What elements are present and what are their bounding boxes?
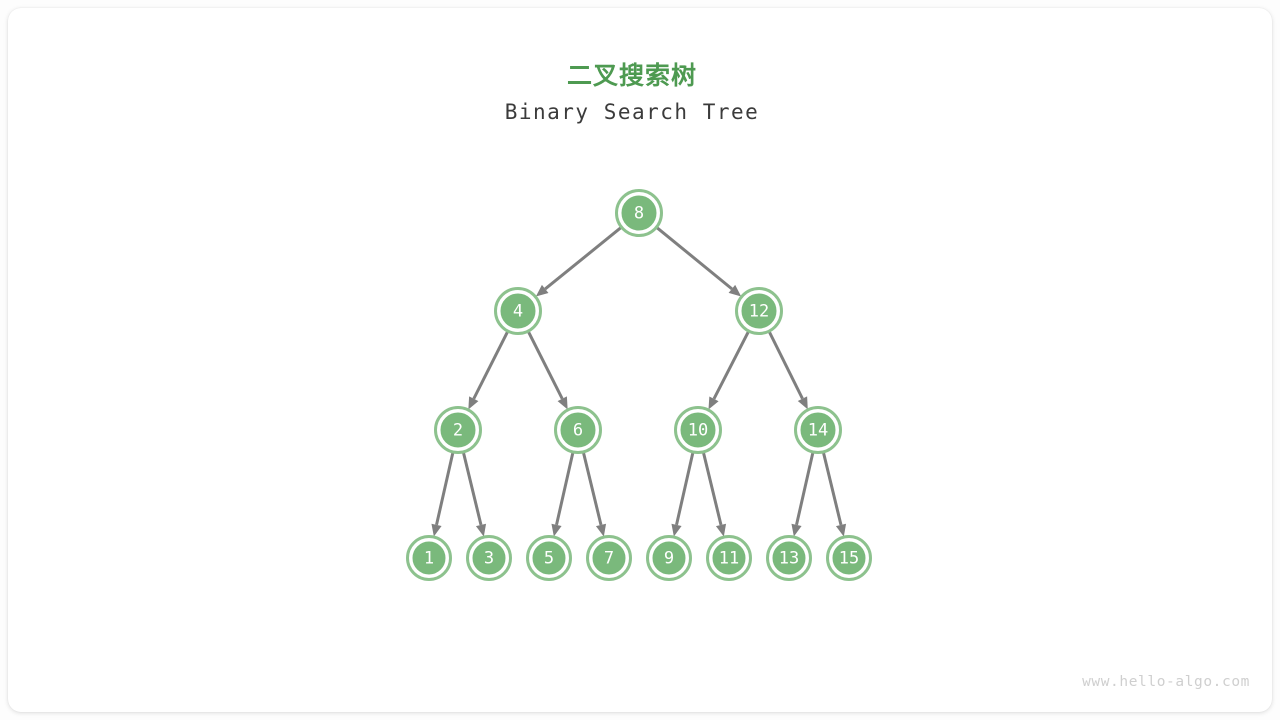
diagram-canvas: 二叉搜索树 Binary Search Tree 841226101413579… bbox=[0, 0, 1280, 720]
tree-edge bbox=[671, 452, 692, 536]
tree-edge bbox=[708, 331, 748, 409]
tree-nodes: 841226101413579111315 bbox=[408, 191, 871, 580]
tree-node-label: 13 bbox=[779, 549, 799, 569]
tree-node-10[interactable]: 10 bbox=[676, 408, 721, 453]
tree-edge bbox=[583, 452, 606, 536]
tree-node-label: 15 bbox=[839, 549, 859, 569]
tree-edge bbox=[769, 332, 808, 410]
tree-node-label: 4 bbox=[513, 302, 523, 322]
tree-edge bbox=[823, 452, 846, 536]
site-watermark: www.hello-algo.com bbox=[1082, 674, 1250, 690]
tree-node-label: 10 bbox=[688, 421, 708, 441]
tree-node-label: 2 bbox=[453, 421, 463, 441]
tree-node-11[interactable]: 11 bbox=[708, 537, 751, 580]
tree-edge bbox=[703, 452, 726, 536]
binary-search-tree-svg: 841226101413579111315 bbox=[0, 0, 1280, 720]
tree-edge bbox=[463, 452, 486, 536]
tree-node-label: 9 bbox=[664, 549, 674, 569]
tree-node-6[interactable]: 6 bbox=[556, 408, 601, 453]
tree-node-label: 1 bbox=[424, 549, 434, 569]
tree-node-13[interactable]: 13 bbox=[768, 537, 811, 580]
tree-node-8[interactable]: 8 bbox=[617, 191, 662, 236]
tree-edge bbox=[536, 227, 621, 296]
tree-node-7[interactable]: 7 bbox=[588, 537, 631, 580]
tree-edge bbox=[657, 228, 741, 297]
tree-node-12[interactable]: 12 bbox=[737, 289, 782, 334]
tree-edge bbox=[791, 452, 812, 536]
tree-node-label: 3 bbox=[484, 549, 494, 569]
tree-edge bbox=[468, 332, 507, 410]
tree-edge bbox=[528, 332, 567, 410]
tree-edge bbox=[431, 452, 452, 536]
tree-node-label: 7 bbox=[604, 549, 614, 569]
tree-node-label: 6 bbox=[573, 421, 583, 441]
tree-node-label: 8 bbox=[634, 204, 644, 224]
tree-node-label: 12 bbox=[749, 302, 769, 322]
tree-node-2[interactable]: 2 bbox=[436, 408, 481, 453]
tree-node-label: 11 bbox=[719, 549, 739, 569]
tree-node-5[interactable]: 5 bbox=[528, 537, 571, 580]
tree-node-9[interactable]: 9 bbox=[648, 537, 691, 580]
tree-node-label: 14 bbox=[808, 421, 828, 441]
tree-edges bbox=[431, 227, 846, 536]
tree-node-3[interactable]: 3 bbox=[468, 537, 511, 580]
tree-node-14[interactable]: 14 bbox=[796, 408, 841, 453]
tree-node-4[interactable]: 4 bbox=[496, 289, 541, 334]
tree-node-1[interactable]: 1 bbox=[408, 537, 451, 580]
tree-edge bbox=[551, 452, 572, 536]
tree-node-15[interactable]: 15 bbox=[828, 537, 871, 580]
tree-node-label: 5 bbox=[544, 549, 554, 569]
